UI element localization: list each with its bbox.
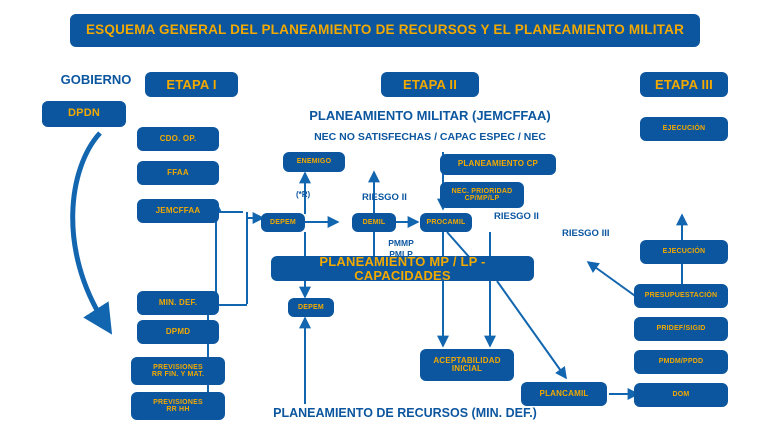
box-demil-label: DEMIL [363,219,386,226]
annotation-riesgo-2a: RIESGO II [362,192,426,203]
box-plancamil-label: PLANCAMIL [540,390,589,398]
box-dom-label: DOM [673,391,690,398]
heading-nec-line: NEC NO SATISFECHAS / CAPAC ESPEC / NEC [280,131,580,143]
box-dpmd: DPMD [137,320,219,344]
annotation-r-asterisk: (*R) [296,190,336,199]
box-pmdm-ppdd: PMDM/PPDD [634,350,728,374]
box-min-def-label: MIN. DEF. [159,299,197,307]
box-pridef-sigid: PRIDEF/SIGID [634,317,728,341]
box-depem-top: DEPEM [261,213,305,232]
box-previsiones-rr-hh-line2: RR HH [166,406,189,413]
box-aceptabilidad-inicial: ACEPTABILIDAD INICIAL [420,349,514,381]
diagram-canvas: ESQUEMA GENERAL DEL PLANEAMIENTO DE RECU… [0,0,764,444]
box-presupuestacion: PRESUPUESTACIÓN [634,284,728,308]
box-cdo-op: CDO. OP. [137,127,219,151]
box-depem-bottom: DEPEM [288,298,334,317]
box-previsiones-rr-hh: PREVISIONES RR HH [131,392,225,420]
annotation-pmmp: PMMP [378,238,424,248]
box-previsiones-rr-hh-line1: PREVISIONES [153,399,203,406]
box-previsiones-rr-fin-line2: RR FIN. Y MAT. [152,371,204,378]
box-ejecucion-top-label: EJECUCIÓN [663,125,706,132]
box-enemigo: ENEMIGO [283,152,345,172]
box-procamil-label: PROCAMIL [427,219,466,226]
box-dpdn: DPDN [42,101,126,127]
annotation-pmlp: PMLP [378,249,424,259]
etapa-1-header: ETAPA I [145,72,238,97]
box-previsiones-rr-fin-line1: PREVISIONES [153,364,203,371]
box-ffaa: FFAA [137,161,219,185]
title-banner-text: ESQUEMA GENERAL DEL PLANEAMIENTO DE RECU… [86,23,684,37]
box-jemcffaa: JEMCFFAA [137,199,219,223]
annotation-riesgo-2b: RIESGO II [494,211,558,222]
box-nec-prioridad: NEC. PRIORIDAD CP/MP/LP [440,182,524,208]
box-min-def: MIN. DEF. [137,291,219,315]
box-aceptabilidad-line2: INICIAL [452,365,482,373]
title-banner: ESQUEMA GENERAL DEL PLANEAMIENTO DE RECU… [70,14,700,47]
box-ejecucion-mid-label: EJECUCIÓN [663,248,706,255]
annotation-riesgo-3: RIESGO III [562,228,630,239]
heading-planeamiento-militar: PLANEAMIENTO MILITAR (JEMCFFAA) [280,108,580,123]
box-planeamiento-cp-label: PLANEAMIENTO CP [458,160,538,168]
box-ejecucion-mid: EJECUCIÓN [640,240,728,264]
box-depem-top-label: DEPEM [270,219,296,226]
box-previsiones-rr-fin: PREVISIONES RR FIN. Y MAT. [131,357,225,385]
box-plancamil: PLANCAMIL [521,382,607,406]
box-planeamiento-cp: PLANEAMIENTO CP [440,154,556,175]
box-ffaa-label: FFAA [167,169,189,177]
box-nec-prioridad-line2: CP/MP/LP [465,195,500,202]
etapa-2-label: ETAPA II [403,78,457,92]
box-ejecucion-top: EJECUCIÓN [640,117,728,141]
gobierno-label: GOBIERNO [46,72,146,87]
box-pridef-sigid-label: PRIDEF/SIGID [656,325,705,332]
box-dom: DOM [634,383,728,407]
box-enemigo-label: ENEMIGO [297,158,331,165]
box-demil: DEMIL [352,213,396,232]
etapa-3-header: ETAPA III [640,72,728,97]
etapa-1-label: ETAPA I [166,78,216,92]
box-pmdm-ppdd-label: PMDM/PPDD [659,358,704,365]
box-presupuestacion-label: PRESUPUESTACIÓN [645,292,718,299]
etapa-3-label: ETAPA III [655,78,713,92]
box-cdo-op-label: CDO. OP. [160,135,197,143]
box-nec-prioridad-line1: NEC. PRIORIDAD [452,188,513,195]
etapa-2-header: ETAPA II [381,72,479,97]
box-dpmd-label: DPMD [166,328,190,336]
box-depem-bottom-label: DEPEM [298,304,324,311]
box-jemcffaa-label: JEMCFFAA [156,207,201,215]
box-procamil: PROCAMIL [420,213,472,232]
heading-planeamiento-recursos: PLANEAMIENTO DE RECURSOS (MIN. DEF.) [250,406,560,420]
box-planeamiento-mp-lp: PLANEAMIENTO MP / LP - CAPACIDADES [271,256,534,281]
box-dpdn-label: DPDN [68,108,100,120]
